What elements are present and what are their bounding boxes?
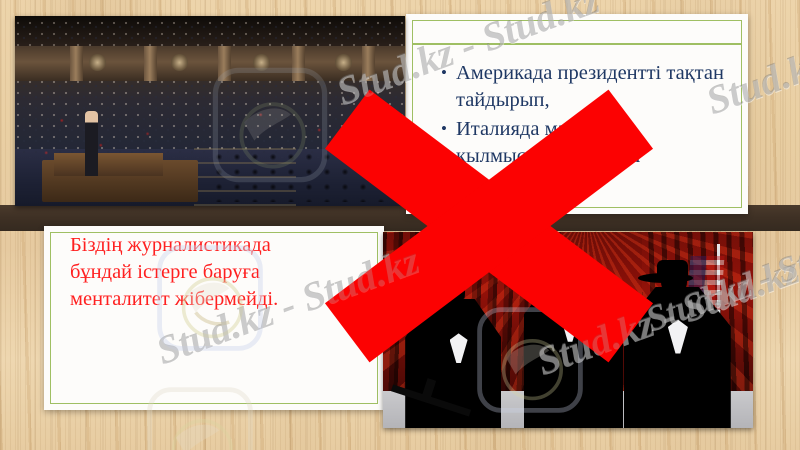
congress-chamber-photo — [15, 16, 405, 206]
presentation-slide: •Америкада президентті тақтан тайдырып,•… — [0, 0, 800, 450]
bullet-item-label: Америкада президентті тақтан тайдырып, — [456, 60, 752, 115]
bullet-item: •Италияда мафияның қылмыстарын жазып — [432, 116, 752, 171]
bullet-marker-icon: • — [432, 116, 456, 142]
bullet-list: •Америкада президентті тақтан тайдырып,•… — [432, 60, 752, 172]
congress-red-accents — [15, 16, 405, 206]
gangsters-photo — [383, 232, 753, 428]
right-card-top-rule — [413, 43, 741, 45]
fedora-brim — [638, 273, 693, 283]
bullet-item-label: Италияда мафияның қылмыстарын жазып — [456, 116, 752, 171]
gangster-figure — [524, 275, 624, 428]
bullet-item: •Америкада президентті тақтан тайдырып, — [432, 60, 752, 115]
bullet-marker-icon: • — [432, 60, 456, 86]
gangster-figure — [624, 287, 731, 428]
gangster-head — [439, 276, 465, 306]
kazakh-red-paragraph: Біздің журналистикада бұндай істерге бар… — [70, 232, 320, 313]
